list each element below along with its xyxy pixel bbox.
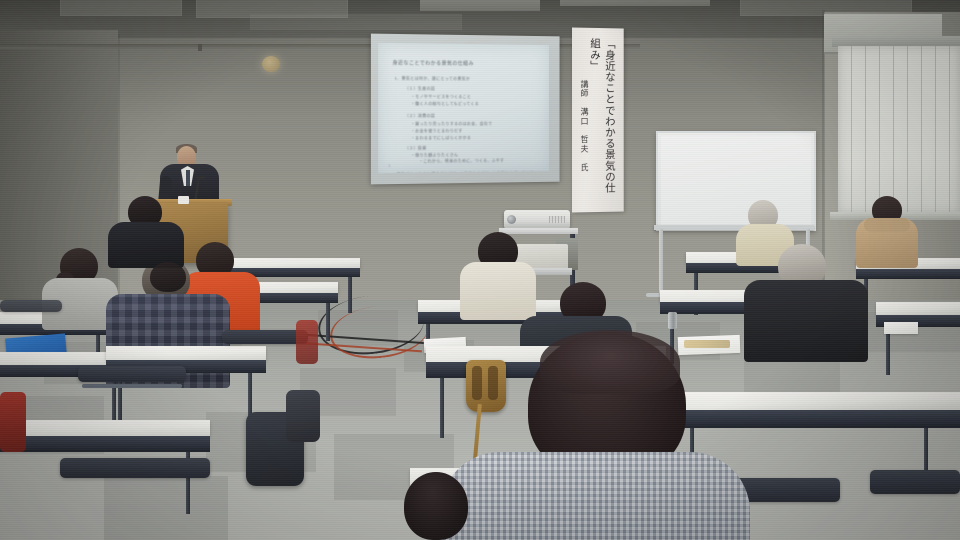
projected-slide: 身近なことでわかる景気の仕組み 1．景気とは何か、誰にとっての景気か （１）生産… [378, 43, 549, 173]
desk [672, 392, 960, 410]
wall-speaker-icon [262, 56, 280, 72]
slide-line: 景気がよくなると賃金が上がる ／ 物価も上がる ／ 金利も上がってくる [397, 170, 534, 173]
hood-icon [864, 218, 910, 232]
chair[interactable] [0, 300, 62, 312]
papers-on-desk [884, 322, 918, 334]
drink-can[interactable] [668, 312, 677, 329]
person-head [404, 472, 468, 540]
projector-vent-icon [549, 216, 565, 223]
chair[interactable] [60, 458, 210, 478]
banner-title-text: 「身近なことでわかる景気の仕組み」 [588, 38, 618, 204]
desk [228, 258, 360, 268]
event-banner: 「身近なことでわかる景気の仕組み」 講師 溝口 哲夫 氏 [572, 27, 624, 212]
cart-top-shelf [499, 228, 578, 234]
chair-rail [82, 384, 182, 388]
slide-line: 1．景気とは何か、誰にとっての景気か [395, 76, 471, 82]
slide-page-number: 1 [388, 164, 390, 168]
whiteboard-leg [659, 229, 663, 295]
slide-line: ・モノやサービスをつくること [411, 94, 471, 100]
person-torso [460, 262, 536, 320]
wall-seam [118, 34, 120, 314]
slide-line: ・これから、将来のために、つくる、ふやす [419, 158, 504, 165]
presenter-tie [186, 170, 190, 186]
whiteboard[interactable] [656, 131, 816, 231]
slide-line: （１）生産の話 [405, 86, 435, 92]
person-torso [744, 280, 868, 362]
banner-speaker-text: 講師 溝口 哲夫 氏 [579, 80, 590, 198]
slide-line: （３）投資 [405, 145, 427, 151]
lectern-name-plate [178, 196, 189, 204]
handbag[interactable] [466, 360, 506, 412]
slide-line: ・買ったり売ったりするのはお金、会社で [411, 121, 493, 127]
handout-graphic [684, 340, 730, 348]
projector-lens-icon [507, 215, 516, 224]
microphone-head-icon [196, 176, 205, 179]
bag[interactable] [286, 390, 320, 442]
rolling-suitcase[interactable] [296, 320, 318, 364]
chair[interactable] [870, 470, 960, 494]
person-torso [440, 452, 750, 540]
rolling-suitcase[interactable] [0, 392, 26, 452]
slide-line: ・お金を使うとまわりだす [411, 128, 463, 134]
person-torso [108, 222, 184, 268]
projector [504, 210, 570, 229]
slide-line: ・まわるまでにしばらくかかる [411, 135, 471, 141]
slide-line: ・働く人の給与としてもどってくる [411, 101, 479, 107]
hair-icon [540, 330, 680, 394]
projection-screen: 身近なことでわかる景気の仕組み 1．景気とは何か、誰にとっての景気か （１）生産… [371, 34, 560, 185]
slide-line: （２）消費の話 [405, 113, 435, 119]
desk [876, 302, 960, 315]
chair[interactable] [78, 366, 186, 382]
lecture-room-photo: 身近なことでわかる景気の仕組み 1．景気とは何か、誰にとっての景気か （１）生産… [0, 0, 960, 540]
person-head [150, 262, 186, 292]
slide-title: 身近なことでわかる景気の仕組み [392, 59, 473, 67]
desk [0, 420, 210, 436]
window-blinds[interactable] [838, 46, 960, 214]
desk [106, 346, 266, 360]
